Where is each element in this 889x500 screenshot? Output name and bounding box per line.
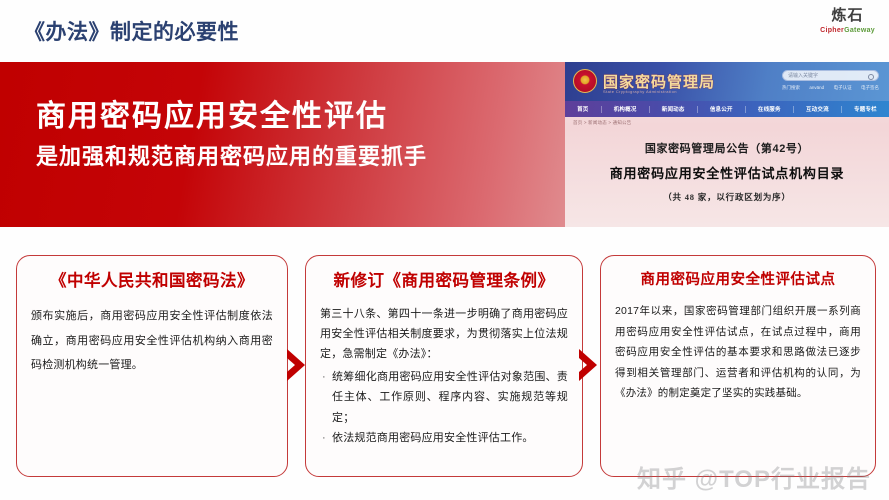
hero-banner-subhead: 是加强和规范商用密码应用的重要抓手: [36, 142, 427, 172]
card-cryptography-law: 《中华人民共和国密码法》 颁布实施后，商用密码应用安全性评估制度依法确立，商用密…: [16, 255, 288, 477]
card-title: 商用密码应用安全性评估试点: [615, 272, 861, 289]
nav-divider: [697, 106, 698, 113]
hero-banner-text: 商用密码应用安全性评估 是加强和规范商用密码应用的重要抓手: [36, 98, 427, 171]
website-nav-item-news[interactable]: 新闻动态: [662, 105, 685, 113]
card-row: 《中华人民共和国密码法》 颁布实施后，商用密码应用安全性评估制度依法确立，商用密…: [0, 255, 889, 480]
slide: 《办法》制定的必要性 炼石 CipherGateway 商用密码应用安全性评估 …: [0, 0, 889, 500]
list-item-label: 统筹细化商用密码应用安全性评估对象范围、责任主体、工作原则、程序内容、实施规范等…: [332, 367, 568, 428]
nav-divider: [841, 106, 842, 113]
card-title: 新修订《商用密码管理条例》: [320, 272, 568, 292]
brand-logo: 炼石 CipherGateway: [820, 8, 875, 34]
notice-subtitle: （共 48 家，以行政区划为序）: [565, 191, 889, 203]
website-quick-links: 热门搜索 använd 电子认证 电子签名: [782, 85, 879, 91]
website-nav-item-topics[interactable]: 专题专栏: [854, 105, 877, 113]
bullet-dot-icon: ·: [320, 367, 332, 428]
website-search-placeholder: 请输入关键字: [788, 72, 818, 81]
card-body: 颁布实施后，商用密码应用安全性评估制度依法确立，商用密码应用安全性评估机构纳入商…: [31, 304, 273, 378]
brand-logo-en-gateway: Gateway: [844, 27, 875, 34]
nav-divider: [649, 106, 650, 113]
bullet-dot-icon: ·: [320, 428, 332, 448]
card-evaluation-pilot: 商用密码应用安全性评估试点 2017年以来，国家密码管理部门组织开展一系列商用密…: [600, 255, 876, 477]
brand-logo-en-cipher: Cipher: [820, 27, 844, 34]
list-item-label: 依法规范商用密码应用安全性评估工作。: [332, 428, 568, 448]
magnifier-icon[interactable]: [868, 74, 874, 80]
website-nav-item-services[interactable]: 在线服务: [758, 105, 781, 113]
slide-header: 《办法》制定的必要性 炼石 CipherGateway: [0, 0, 889, 62]
card-body: 2017年以来，国家密码管理部门组织开展一系列商用密码应用安全性评估试点，在试点…: [615, 301, 861, 403]
nav-divider: [793, 106, 794, 113]
website-breadcrumb: 首页 > 新闻动态 > 通知公告: [573, 120, 631, 126]
right-arrow-icon: [285, 345, 309, 385]
website-nav-item-interaction[interactable]: 互动交流: [806, 105, 829, 113]
list-item: · 统筹细化商用密码应用安全性评估对象范围、责任主体、工作原则、程序内容、实施规…: [320, 367, 568, 428]
list-item: · 依法规范商用密码应用安全性评估工作。: [320, 428, 568, 448]
website-nav-item-disclosure[interactable]: 信息公开: [710, 105, 733, 113]
card-bullet-list: · 统筹细化商用密码应用安全性评估对象范围、责任主体、工作原则、程序内容、实施规…: [320, 367, 568, 448]
national-emblem-icon: [573, 69, 597, 93]
website-header-bar: 国家密码管理局 State Cryptography Administratio…: [565, 62, 889, 101]
right-arrow-icon: [577, 345, 601, 385]
card-title: 《中华人民共和国密码法》: [31, 272, 273, 292]
website-org-name-sub: State Cryptography Administration: [603, 89, 677, 94]
website-quick-link[interactable]: 电子认证: [834, 85, 852, 91]
website-nav-item-about[interactable]: 机构概况: [614, 105, 637, 113]
website-quick-link[interactable]: använd: [809, 85, 824, 91]
website-search-box[interactable]: 请输入关键字: [782, 70, 879, 81]
website-nav-bar: 首页 机构概况 新闻动态 信息公开 在线服务 互动交流 专题专栏: [565, 101, 889, 117]
website-quick-link[interactable]: 热门搜索: [782, 85, 800, 91]
nav-divider: [745, 106, 746, 113]
hero-banner-headline: 商用密码应用安全性评估: [36, 98, 427, 136]
brand-logo-cn: 炼石: [820, 8, 875, 23]
brand-logo-en: CipherGateway: [820, 27, 875, 34]
nav-divider: [601, 106, 602, 113]
page-title: 《办法》制定的必要性: [24, 16, 239, 46]
watermark: 知乎 @TOP行业报告: [637, 459, 871, 494]
card-commercial-crypto-regulation: 新修订《商用密码管理条例》 第三十八条、第四十一条进一步明确了商用密码应用安全性…: [305, 255, 583, 477]
website-quick-link[interactable]: 电子签名: [861, 85, 879, 91]
website-notice: 国家密码管理局公告（第42号） 商用密码应用安全性评估试点机构目录 （共 48 …: [565, 140, 889, 203]
card-body: 第三十八条、第四十一条进一步明确了商用密码应用安全性评估相关制度要求，为贯彻落实…: [320, 304, 568, 365]
notice-title: 商用密码应用安全性评估试点机构目录: [565, 163, 889, 182]
website-nav-item-home[interactable]: 首页: [577, 105, 588, 113]
website-screenshot: 国家密码管理局 State Cryptography Administratio…: [565, 62, 889, 227]
notice-announcement-number: 国家密码管理局公告（第42号）: [565, 140, 889, 156]
